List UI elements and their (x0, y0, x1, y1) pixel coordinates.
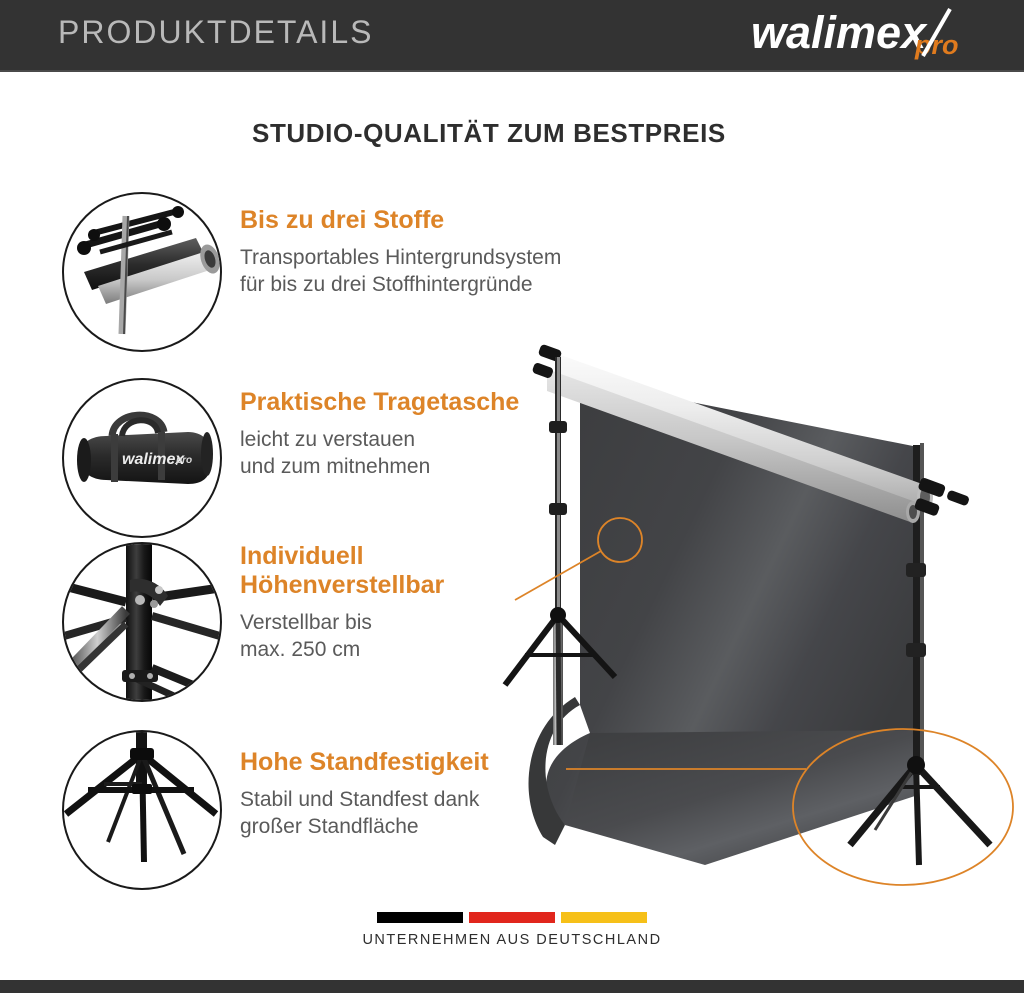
german-flag-icon (377, 912, 647, 923)
icon-diagonal-brace (74, 610, 126, 664)
right-stand-clamp (906, 563, 926, 577)
feature-item: Hohe Standfestigkeit Stabil und Standfes… (62, 730, 682, 895)
feature-item: walimex pro Praktische Tragetasche leich… (62, 378, 682, 543)
page-title: PRODUKTDETAILS (58, 14, 373, 51)
svg-text:pro: pro (175, 455, 192, 466)
feature-heading: Bis zu drei Stoffe (240, 206, 680, 235)
flag-bar-gold (561, 912, 647, 923)
feature-text: Individuell Höhenverstellbar Verstellbar… (240, 542, 680, 664)
feature-body: Stabil und Standfest dank großer Standfl… (240, 786, 680, 841)
feature-heading: Praktische Tragetasche (240, 388, 680, 417)
feature-body: Verstellbar bis max. 250 cm (240, 609, 680, 664)
section-subtitle: STUDIO-QUALITÄT ZUM BESTPREIS (252, 118, 726, 149)
feature-text: Bis zu drei Stoffe Transportables Hinter… (240, 206, 680, 299)
bottom-bar (0, 980, 1024, 993)
product-details-infographic: PRODUKTDETAILS walimex pro STUDIO-QUALIT… (0, 0, 1024, 993)
tripod-base-icon (62, 730, 222, 890)
walimex-pro-logo: walimex pro (745, 6, 990, 64)
crossbar-rods-icon (62, 192, 222, 352)
right-stand-clamp-lower (906, 643, 926, 657)
logo-brand-text: walimex (751, 7, 928, 58)
feature-item: Individuell Höhenverstellbar Verstellbar… (62, 542, 682, 717)
footer-text: UNTERNEHMEN AUS DEUTSCHLAND (362, 932, 661, 948)
flag-bar-black (377, 912, 463, 923)
flag-bar-red (469, 912, 555, 923)
height-adjust-joint-icon (62, 542, 222, 702)
feature-text: Praktische Tragetasche leicht zu verstau… (240, 388, 680, 481)
feature-heading: Hohe Standfestigkeit (240, 748, 680, 777)
feature-text: Hohe Standfestigkeit Stabil und Standfes… (240, 748, 680, 841)
page-header: PRODUKTDETAILS walimex pro (0, 0, 1024, 72)
carrying-bag-icon: walimex pro (62, 378, 222, 538)
footer: UNTERNEHMEN AUS DEUTSCHLAND (0, 912, 1024, 972)
feature-body: Transportables Hintergrundsystem für bis… (240, 244, 680, 299)
feature-item: Bis zu drei Stoffe Transportables Hinter… (62, 192, 682, 357)
feature-heading: Individuell Höhenverstellbar (240, 542, 680, 600)
feature-body: leicht zu verstauen und zum mitnehmen (240, 426, 680, 481)
